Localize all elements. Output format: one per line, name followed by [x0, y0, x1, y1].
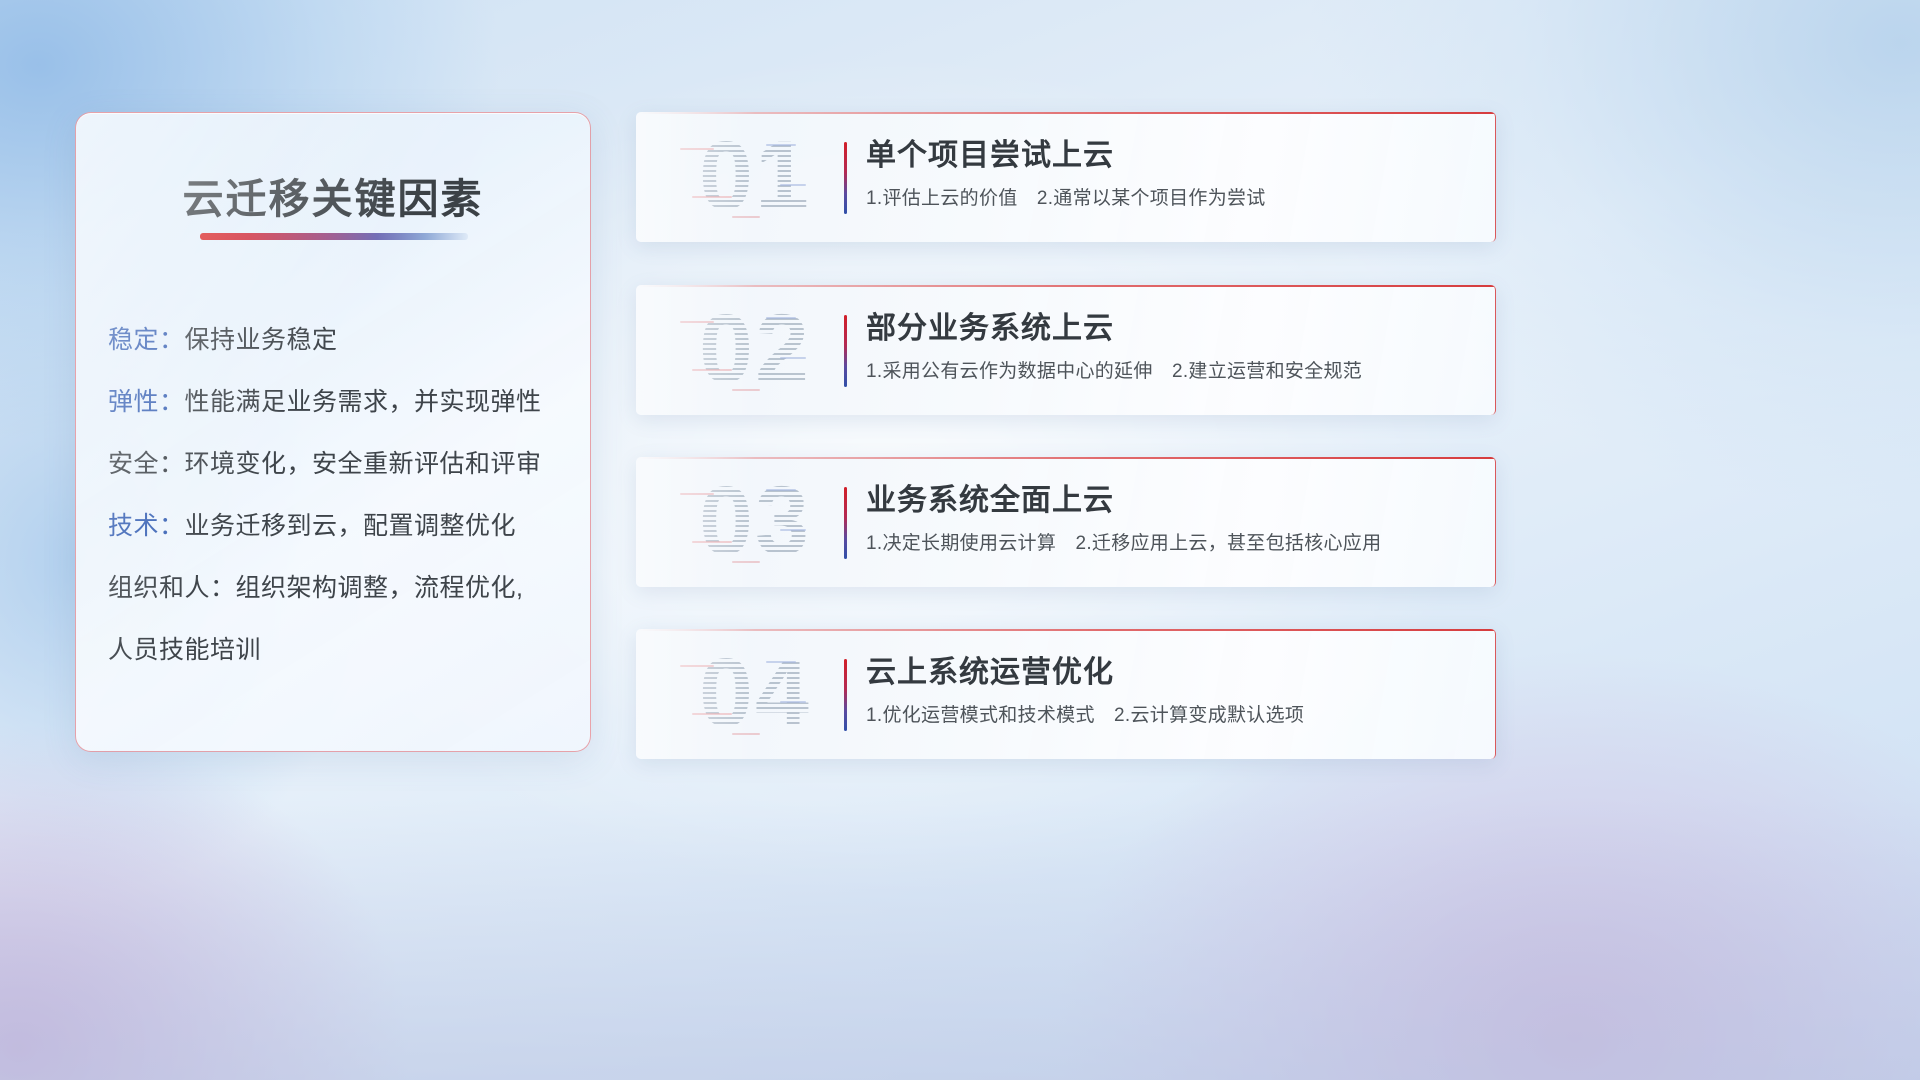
list-item-text: 保持业务稳定	[185, 326, 338, 354]
stage-title: 部分业务系统上云	[866, 307, 1471, 351]
stage-card-body: 单个项目尝试上云 1.评估上云的价值 2.通常以某个项目作为尝试	[866, 134, 1471, 213]
list-item-label: 组织和人：	[108, 574, 236, 602]
stage-divider-bar	[844, 659, 847, 731]
stage-subtitle: 1.优化运营模式和技术模式 2.云计算变成默认选项	[866, 702, 1471, 730]
slide-stage: 云迁移关键因素 稳定：保持业务稳定 弹性：性能满足业务需求，并实现弹性 安全：环…	[0, 0, 1920, 1080]
stage-number-02: 02	[670, 285, 840, 415]
stage-divider-bar	[844, 142, 847, 214]
list-item-label: 安全：	[108, 450, 185, 478]
list-item: 弹性：性能满足业务需求，并实现弹性	[108, 371, 570, 433]
stage-card-body: 业务系统全面上云 1.决定长期使用云计算 2.迁移应用上云，甚至包括核心应用	[866, 479, 1471, 558]
list-item: 稳定：保持业务稳定	[108, 309, 570, 371]
list-item-text: 组织架构调整，流程优化,	[236, 574, 524, 602]
stage-subtitle: 1.决定长期使用云计算 2.迁移应用上云，甚至包括核心应用	[866, 530, 1471, 558]
key-factors-list: 稳定：保持业务稳定 弹性：性能满足业务需求，并实现弹性 安全：环境变化，安全重新…	[108, 309, 570, 681]
title-underline-rule	[200, 233, 468, 240]
stage-divider-bar	[844, 315, 847, 387]
list-item-label: 稳定：	[108, 326, 185, 354]
stage-title: 业务系统全面上云	[866, 479, 1471, 523]
stage-card-04[interactable]: 04 云上系统运营优化 1.优化运营模式和技术模式 2.云计算变成默认选项	[636, 629, 1496, 759]
stage-card-02[interactable]: 02 部分业务系统上云 1.采用公有云作为数据中心的延伸 2.建立运营和安全规范	[636, 285, 1496, 415]
page-title: 云迁移关键因素	[76, 165, 590, 225]
stage-title: 云上系统运营优化	[866, 651, 1471, 695]
stage-title: 单个项目尝试上云	[866, 134, 1471, 178]
key-factors-panel: 云迁移关键因素 稳定：保持业务稳定 弹性：性能满足业务需求，并实现弹性 安全：环…	[75, 112, 591, 752]
stage-card-body: 云上系统运营优化 1.优化运营模式和技术模式 2.云计算变成默认选项	[866, 651, 1471, 730]
stage-card-01[interactable]: 01 单个项目尝试上云 1.评估上云的价值 2.通常以某个项目作为尝试	[636, 112, 1496, 242]
stage-number-04: 04	[670, 629, 840, 759]
list-item-text: 性能满足业务需求，并实现弹性	[185, 388, 542, 416]
stage-divider-bar	[844, 487, 847, 559]
stage-subtitle: 1.评估上云的价值 2.通常以某个项目作为尝试	[866, 185, 1471, 213]
list-item-label: 弹性：	[108, 388, 185, 416]
stage-number-03: 03	[670, 457, 840, 587]
stage-number-01: 01	[670, 112, 840, 242]
list-item-text: 人员技能培训	[108, 636, 261, 664]
stage-card-body: 部分业务系统上云 1.采用公有云作为数据中心的延伸 2.建立运营和安全规范	[866, 307, 1471, 386]
list-item-label: 技术：	[108, 512, 185, 540]
stage-card-03[interactable]: 03 业务系统全面上云 1.决定长期使用云计算 2.迁移应用上云，甚至包括核心应…	[636, 457, 1496, 587]
list-item: 组织和人：组织架构调整，流程优化,	[108, 557, 570, 619]
list-item: 安全：环境变化，安全重新评估和评审	[108, 433, 570, 495]
list-item: 人员技能培训	[108, 619, 570, 681]
list-item-text: 环境变化，安全重新评估和评审	[185, 450, 542, 478]
stage-subtitle: 1.采用公有云作为数据中心的延伸 2.建立运营和安全规范	[866, 358, 1471, 386]
list-item-text: 业务迁移到云，配置调整优化	[185, 512, 517, 540]
list-item: 技术：业务迁移到云，配置调整优化	[108, 495, 570, 557]
